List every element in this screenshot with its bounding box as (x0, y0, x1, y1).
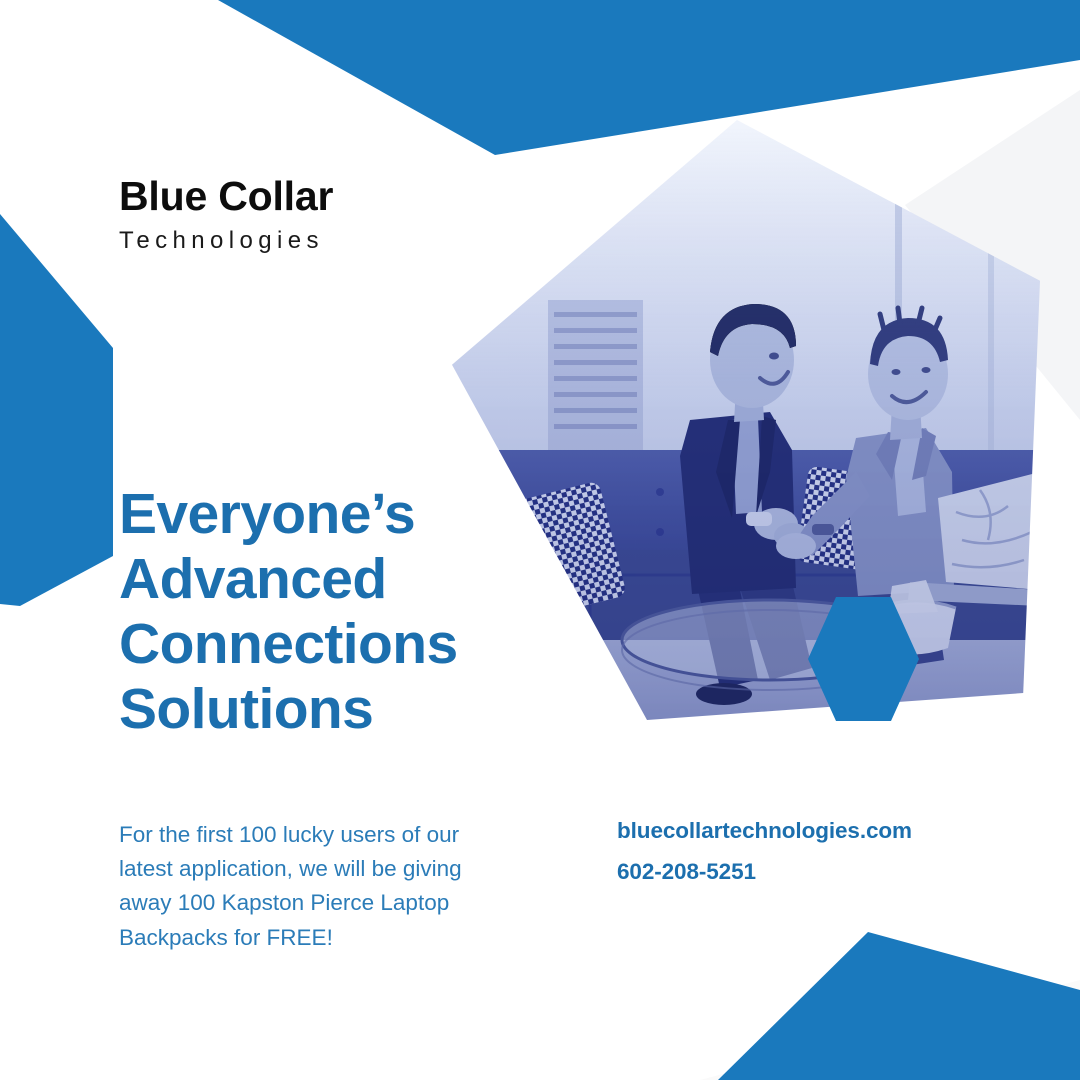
promo-text: For the first 100 lucky users of our lat… (119, 818, 519, 955)
brand-subtitle: Technologies (119, 228, 333, 254)
left-blue-pentagon-icon (0, 214, 113, 606)
bottom-right-blue-shape-icon (718, 932, 1080, 1080)
promotional-poster: Blue Collar Technologies Everyone’s Adva… (0, 0, 1080, 1080)
headline: Everyone’s Advanced Connections Solution… (119, 482, 539, 742)
brand-lockup: Blue Collar Technologies (119, 175, 333, 254)
brand-name: Blue Collar (119, 175, 333, 218)
contact-block: bluecollartechnologies.com 602-208-5251 (617, 818, 912, 885)
contact-website[interactable]: bluecollartechnologies.com (617, 818, 912, 844)
headline-line-1: Everyone’s (119, 482, 539, 547)
contact-phone[interactable]: 602-208-5251 (617, 859, 912, 885)
headline-line-2: Advanced (119, 547, 539, 612)
headline-line-3: Connections (119, 612, 539, 677)
top-blue-pentagon-icon (218, 0, 1080, 155)
headline-line-4: Solutions (119, 677, 539, 742)
